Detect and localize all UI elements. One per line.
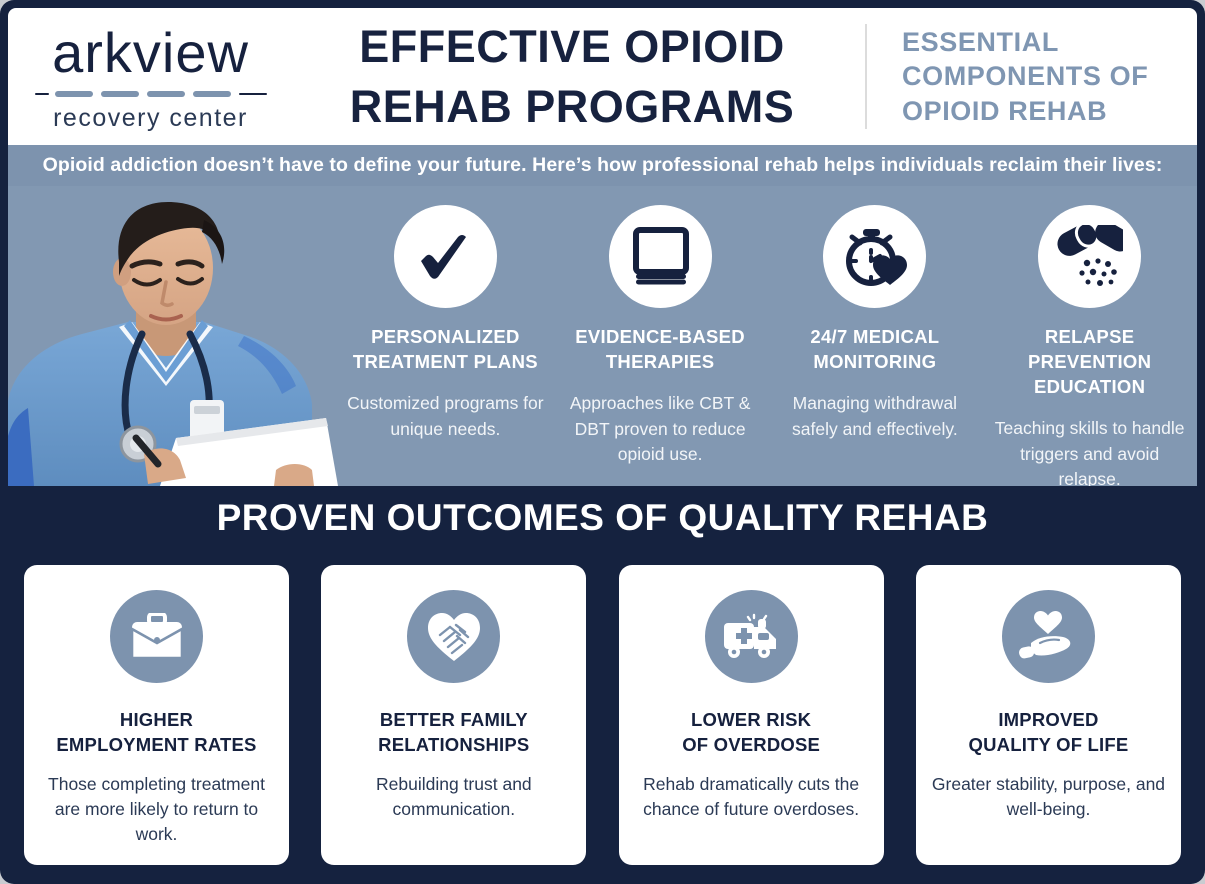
hand-heart-icon: [1019, 611, 1077, 663]
page-subtitle-line1: ESSENTIAL: [902, 25, 1197, 60]
outcome-card-title: IMPROVED QUALITY OF LIFE: [969, 708, 1129, 757]
outcome-title-line2: RELATIONSHIPS: [378, 733, 529, 758]
page-subtitle-line2: COMPONENTS OF: [902, 59, 1197, 94]
book-icon: [630, 226, 690, 288]
outcome-title-line1: BETTER FAMILY: [378, 708, 529, 733]
component-title-line2: MONITORING: [810, 350, 939, 375]
outcome-card-list: HIGHER EMPLOYMENT RATES Those completing…: [24, 565, 1181, 865]
page-title-line1: EFFECTIVE OPIOID: [293, 17, 851, 76]
component-icon-circle: [823, 205, 926, 308]
outcome-title-line1: HIGHER: [56, 708, 256, 733]
outcome-card-desc: Rehab dramatically cuts the chance of fu…: [633, 772, 869, 822]
outcome-card-desc: Greater stability, purpose, and well-bei…: [930, 772, 1166, 822]
outcomes-heading: PROVEN OUTCOMES OF QUALITY REHAB: [0, 497, 1205, 539]
ambulance-icon: [722, 613, 780, 661]
component-title-line2: TREATMENT PLANS: [353, 350, 538, 375]
component-title-line1: RELAPSE PREVENTION: [984, 325, 1196, 375]
page-title: EFFECTIVE OPIOID REHAB PROGRAMS: [293, 17, 865, 136]
intro-banner: Opioid addiction doesn’t have to define …: [8, 145, 1197, 186]
component-card-desc: Approaches like CBT & DBT proven to redu…: [560, 391, 760, 468]
page-subtitle-line3: OPIOID REHAB: [902, 94, 1197, 129]
component-card-list: PERSONALIZED TREATMENT PLANS Customized …: [338, 186, 1197, 486]
outcome-title-line1: LOWER RISK: [682, 708, 820, 733]
component-card-desc: Customized programs for unique needs.: [345, 391, 545, 442]
outcome-icon-circle: [110, 590, 203, 683]
outcome-card[interactable]: BETTER FAMILY RELATIONSHIPS Rebuilding t…: [321, 565, 586, 865]
outcome-title-line1: IMPROVED: [969, 708, 1129, 733]
component-card-title: RELAPSE PREVENTION EDUCATION: [984, 325, 1196, 400]
outcome-icon-circle: [1002, 590, 1095, 683]
outcome-card-title: HIGHER EMPLOYMENT RATES: [56, 708, 256, 757]
components-section: PERSONALIZED TREATMENT PLANS Customized …: [8, 186, 1197, 486]
outcome-title-line2: QUALITY OF LIFE: [969, 733, 1129, 758]
component-title-line2: THERAPIES: [575, 350, 745, 375]
pill-capsule-icon: [1057, 225, 1123, 289]
component-card-title: 24/7 MEDICAL MONITORING: [810, 325, 939, 375]
component-icon-circle: [394, 205, 497, 308]
component-icon-circle: [609, 205, 712, 308]
outcome-card-desc: Rebuilding trust and communication.: [336, 772, 572, 822]
clinician-photo-illustration: [8, 186, 338, 486]
outcome-card[interactable]: IMPROVED QUALITY OF LIFE Greater stabili…: [916, 565, 1181, 865]
logo-wordmark: arkview: [52, 25, 249, 81]
logo-tagline: recovery center: [53, 104, 248, 133]
outcome-title-line2: OF OVERDOSE: [682, 733, 820, 758]
component-title-line1: 24/7 MEDICAL: [810, 325, 939, 350]
outcome-card-desc: Those completing treatment are more like…: [39, 772, 275, 847]
intro-banner-text: Opioid addiction doesn’t have to define …: [43, 154, 1163, 177]
outcome-card-title: BETTER FAMILY RELATIONSHIPS: [378, 708, 529, 757]
brand-logo[interactable]: arkview recovery center: [8, 8, 293, 145]
component-card-title: PERSONALIZED TREATMENT PLANS: [353, 325, 538, 375]
outcome-card-title: LOWER RISK OF OVERDOSE: [682, 708, 820, 757]
component-card: 24/7 MEDICAL MONITORING Managing withdra…: [768, 186, 983, 486]
page-title-line2: REHAB PROGRAMS: [293, 77, 851, 136]
component-card: RELAPSE PREVENTION EDUCATION Teaching sk…: [982, 186, 1197, 486]
component-title-line2: EDUCATION: [984, 375, 1196, 400]
outcome-card[interactable]: LOWER RISK OF OVERDOSE Rehab dramaticall…: [619, 565, 884, 865]
component-icon-circle: [1038, 205, 1141, 308]
header: arkview recovery center EFFECTIVE OPIOID…: [8, 8, 1197, 145]
page-subtitle: ESSENTIAL COMPONENTS OF OPIOID REHAB: [867, 25, 1197, 129]
handshake-heart-icon: [426, 611, 482, 663]
outcome-title-line2: EMPLOYMENT RATES: [56, 733, 256, 758]
briefcase-icon: [130, 613, 184, 661]
checkmark-icon: [413, 225, 477, 289]
component-title-line1: EVIDENCE-BASED: [575, 325, 745, 350]
component-title-line1: PERSONALIZED: [353, 325, 538, 350]
component-card-desc: Teaching skills to handle triggers and a…: [990, 416, 1190, 486]
logo-divider-icon: [35, 87, 267, 100]
header-titles: EFFECTIVE OPIOID REHAB PROGRAMS ESSENTIA…: [293, 8, 1197, 145]
component-card-title: EVIDENCE-BASED THERAPIES: [575, 325, 745, 375]
stopwatch-heart-icon: [842, 225, 908, 289]
component-card: PERSONALIZED TREATMENT PLANS Customized …: [338, 186, 553, 486]
outcome-icon-circle: [407, 590, 500, 683]
outcome-icon-circle: [705, 590, 798, 683]
clinician-photo: [8, 186, 338, 486]
outcome-card[interactable]: HIGHER EMPLOYMENT RATES Those completing…: [24, 565, 289, 865]
component-card-desc: Managing withdrawal safely and effective…: [775, 391, 975, 442]
infographic-poster: arkview recovery center EFFECTIVE OPIOID…: [0, 0, 1205, 884]
component-card: EVIDENCE-BASED THERAPIES Approaches like…: [553, 186, 768, 486]
